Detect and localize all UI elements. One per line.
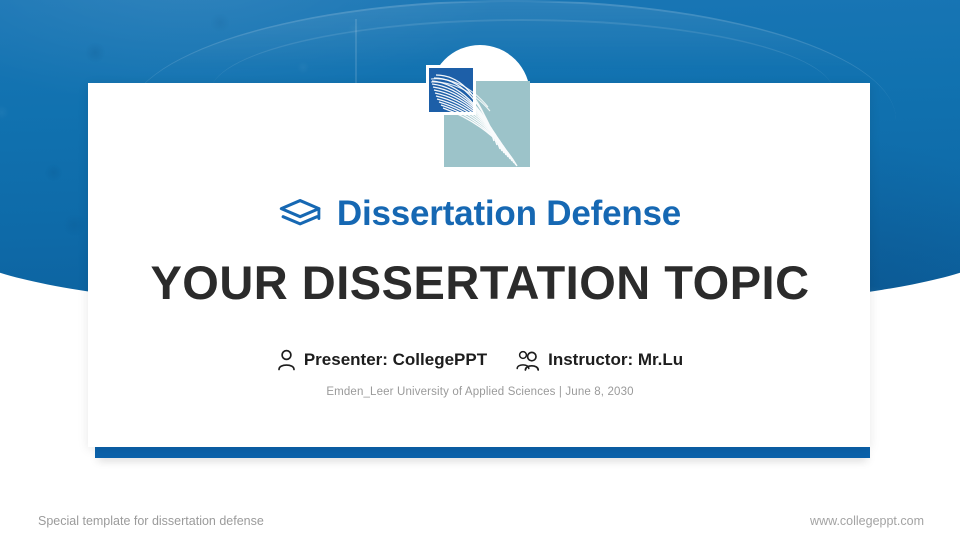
card-accent-bar xyxy=(95,447,870,458)
footer-website: www.collegeppt.com xyxy=(810,514,924,528)
university-emblem-icon xyxy=(418,45,542,169)
eyebrow-label: Dissertation Defense xyxy=(337,194,681,234)
background-support-beam xyxy=(355,19,357,89)
graduation-cap-icon xyxy=(279,197,323,231)
presenter-credit: Presenter: CollegePPT xyxy=(277,349,487,371)
footer-tagline: Special template for dissertation defens… xyxy=(38,514,264,528)
person-icon xyxy=(277,349,296,371)
instructor-credit: Instructor: Mr.Lu xyxy=(515,349,683,371)
page-title: YOUR DISSERTATION TOPIC xyxy=(0,255,960,310)
presenter-label: Presenter: CollegePPT xyxy=(304,350,487,370)
eyebrow-heading: Dissertation Defense xyxy=(0,194,960,234)
slide-canvas: Dissertation Defense YOUR DISSERTATION T… xyxy=(0,0,960,540)
people-group-icon xyxy=(515,349,540,371)
credits-row: Presenter: CollegePPT Instructor: Mr.Lu xyxy=(0,349,960,371)
institution-and-date: Emden_Leer University of Applied Science… xyxy=(0,386,960,398)
instructor-label: Instructor: Mr.Lu xyxy=(548,350,683,370)
emblem-wave-lines xyxy=(418,45,542,169)
